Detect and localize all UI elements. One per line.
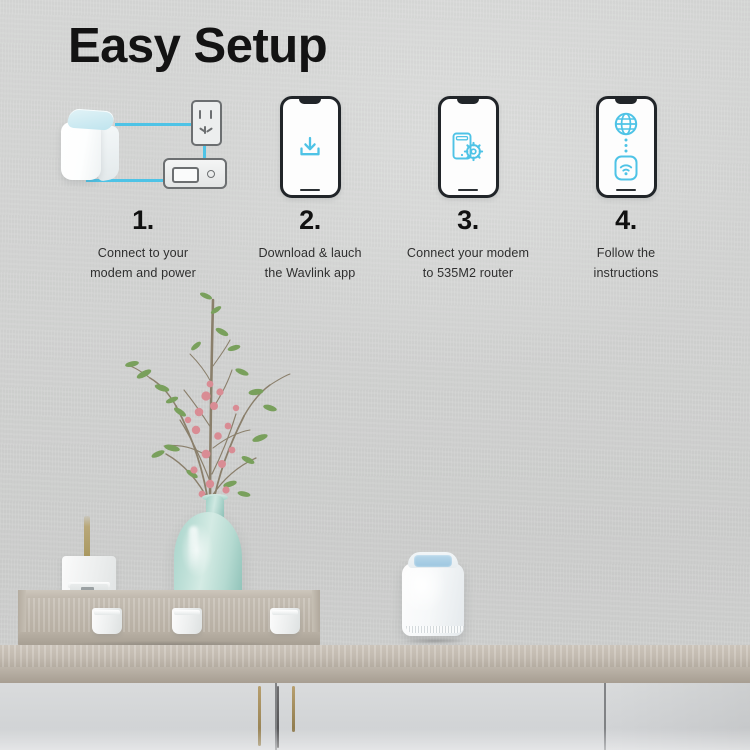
smartphone-icon: [438, 96, 499, 198]
phone-home-bar: [616, 189, 636, 191]
modem-icon: [163, 158, 227, 189]
setup-infographic: Easy Setup: [0, 0, 750, 750]
cube-side: [98, 124, 119, 182]
router-cube-icon: [59, 110, 121, 184]
vase-highlight: [189, 526, 198, 572]
globe-icon: [616, 114, 636, 134]
wood-grain: [0, 645, 750, 667]
wifi-router-icon: [616, 157, 637, 180]
step-4: 4. Follow the instructions: [547, 98, 705, 288]
step-4-artwork: [547, 98, 705, 198]
smartphone-icon: [596, 96, 657, 198]
step-2-caption: Download & lauch the Wavlink app: [258, 243, 361, 284]
step-1-number: 1.: [132, 207, 154, 234]
modem-screen: [172, 167, 199, 183]
white-cup: [270, 608, 300, 634]
mesh-router-product: [400, 552, 466, 642]
step-4-caption: Follow the instructions: [594, 243, 659, 284]
step-2: 2. Download & lauch the Wavlink app: [231, 98, 389, 288]
phone-screen: [283, 99, 338, 195]
cabinet-handle[interactable]: [292, 686, 295, 732]
cube-top-plate: [66, 108, 117, 130]
router-body: [402, 563, 464, 636]
floor-fade: [0, 728, 750, 750]
dots-icon: [625, 139, 628, 153]
smartphone-icon: [280, 96, 341, 198]
console-front-edge: [0, 667, 750, 683]
step-2-artwork: [231, 98, 389, 198]
step-2-number: 2.: [299, 207, 321, 234]
router-top-plate: [414, 555, 452, 567]
step-3-caption: Connect your modem to 535M2 router: [407, 243, 529, 284]
step-3: 3. Connect your modem to 535M2 router: [389, 98, 547, 288]
router-vents: [406, 626, 464, 633]
cable-line: [115, 123, 193, 126]
download-arrow-icon: [297, 134, 323, 160]
step-3-number: 3.: [457, 207, 479, 234]
phone-home-bar: [458, 189, 478, 191]
step-3-artwork: [389, 98, 547, 198]
modem-led-icon: [207, 170, 215, 178]
step-1-artwork: [55, 98, 231, 198]
white-cup: [172, 608, 202, 634]
white-cup: [92, 608, 122, 634]
page-title: Easy Setup: [68, 22, 327, 71]
console-top: [0, 645, 750, 667]
room-photo: [0, 288, 750, 750]
step-1: 1. Connect to your modem and power: [55, 98, 231, 288]
step-1-caption: Connect to your modem and power: [90, 243, 196, 284]
cube-face: [61, 122, 101, 180]
connection-diagram: [55, 98, 231, 198]
phone-home-bar: [300, 189, 320, 191]
gear-icon: [465, 143, 482, 160]
phone-screen: [599, 99, 654, 195]
step-4-number: 4.: [615, 207, 637, 234]
wall-outlet-icon: [191, 100, 222, 146]
phone-screen: [441, 99, 496, 195]
steps-row: 1. Connect to your modem and power: [55, 98, 705, 288]
branch-arrangement: [110, 288, 320, 518]
